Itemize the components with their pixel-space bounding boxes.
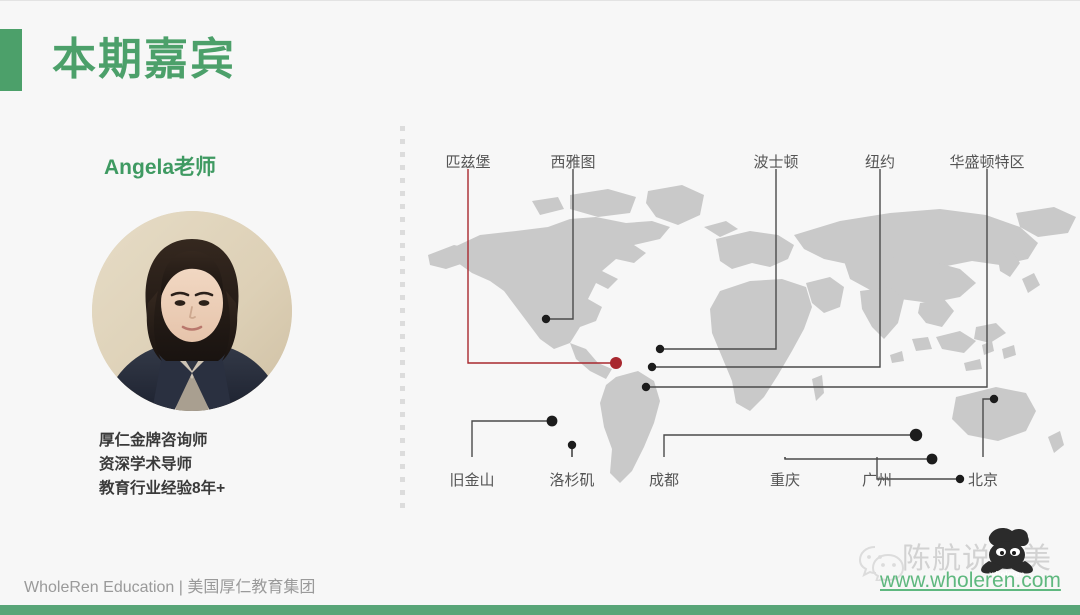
divider-dot xyxy=(400,178,405,183)
divider-dot xyxy=(400,503,405,508)
page-title: 本期嘉宾 xyxy=(52,38,236,82)
divider-dot xyxy=(400,230,405,235)
dot-beijing xyxy=(990,395,998,403)
divider-dot xyxy=(400,490,405,495)
divider-dot xyxy=(400,126,405,131)
city-label-washington: 华盛顿特区 xyxy=(949,151,1024,172)
world-map-region: 匹兹堡 西雅图 波士顿 纽约 华盛顿特区 旧金山 洛杉矶 成都 重庆 广州 北京 xyxy=(420,131,1080,511)
portrait-photo xyxy=(92,211,292,411)
watermark-url[interactable]: www.wholeren.com xyxy=(880,569,1061,593)
divider-dot xyxy=(400,256,405,261)
divider-dot xyxy=(400,399,405,404)
dot-pittsburgh xyxy=(610,357,622,369)
divider-dot xyxy=(400,412,405,417)
divider-dot xyxy=(400,308,405,313)
guest-panel: Angela老师 xyxy=(0,131,390,521)
slide-canvas: 本期嘉宾 Angela老师 xyxy=(0,0,1080,615)
divider-dot xyxy=(400,321,405,326)
dot-boston xyxy=(656,345,664,353)
city-label-sanfrancisco: 旧金山 xyxy=(449,469,494,490)
dot-seattle xyxy=(542,315,550,323)
world-map-graphic xyxy=(420,131,1080,511)
divider-dot xyxy=(400,477,405,482)
divider-dot xyxy=(400,386,405,391)
dot-newyork xyxy=(648,363,656,371)
footer-green-bar xyxy=(0,605,1080,615)
footer-branding: WholeRen Education | 美国厚仁教育集团 xyxy=(24,573,315,597)
divider-dot xyxy=(400,191,405,196)
bio-line: 厚仁金牌咨询师 xyxy=(99,429,225,453)
divider-dot xyxy=(400,243,405,248)
divider-dot xyxy=(400,451,405,456)
bio-line: 资深学术导师 xyxy=(99,453,225,477)
dot-guangzhou xyxy=(956,475,964,483)
city-label-losangeles: 洛杉矶 xyxy=(549,469,594,490)
city-label-guangzhou: 广州 xyxy=(862,469,892,490)
divider-dot xyxy=(400,139,405,144)
connector-chongqing xyxy=(785,457,932,459)
connector-sanfrancisco xyxy=(472,421,552,457)
connector-chengdu xyxy=(664,435,916,457)
green-accent-bar xyxy=(0,29,22,91)
city-label-beijing: 北京 xyxy=(968,469,998,490)
watermark: 陈航说留美 wholeren www.wholeren.com xyxy=(852,527,1072,599)
divider-dot xyxy=(400,347,405,352)
city-label-newyork: 纽约 xyxy=(865,151,895,172)
vertical-dotted-divider xyxy=(400,126,405,516)
guest-bio: 厚仁金牌咨询师 资深学术导师 教育行业经验8年+ xyxy=(99,429,225,501)
avatar xyxy=(92,211,292,411)
slide-header: 本期嘉宾 xyxy=(0,29,236,91)
city-label-pittsburgh: 匹兹堡 xyxy=(445,151,490,172)
dot-losangeles xyxy=(568,441,576,449)
dot-chengdu xyxy=(910,429,922,441)
divider-dot xyxy=(400,217,405,222)
divider-dot xyxy=(400,269,405,274)
divider-dot xyxy=(400,282,405,287)
divider-dot xyxy=(400,360,405,365)
dot-chongqing xyxy=(927,454,938,465)
dot-washington xyxy=(642,383,650,391)
divider-dot xyxy=(400,464,405,469)
divider-dot xyxy=(400,334,405,339)
map-landmasses xyxy=(428,185,1076,483)
divider-dot xyxy=(400,152,405,157)
divider-dot xyxy=(400,438,405,443)
guest-name: Angela老师 xyxy=(104,151,216,181)
divider-dot xyxy=(400,165,405,170)
divider-dot xyxy=(400,373,405,378)
dot-sanfrancisco xyxy=(547,416,558,427)
city-label-chengdu: 成都 xyxy=(649,469,679,490)
divider-dot xyxy=(400,425,405,430)
divider-dot xyxy=(400,204,405,209)
divider-dot xyxy=(400,295,405,300)
city-label-seattle: 西雅图 xyxy=(550,151,595,172)
city-label-boston: 波士顿 xyxy=(753,151,798,172)
city-label-chongqing: 重庆 xyxy=(770,469,800,490)
bio-line: 教育行业经验8年+ xyxy=(99,477,225,501)
